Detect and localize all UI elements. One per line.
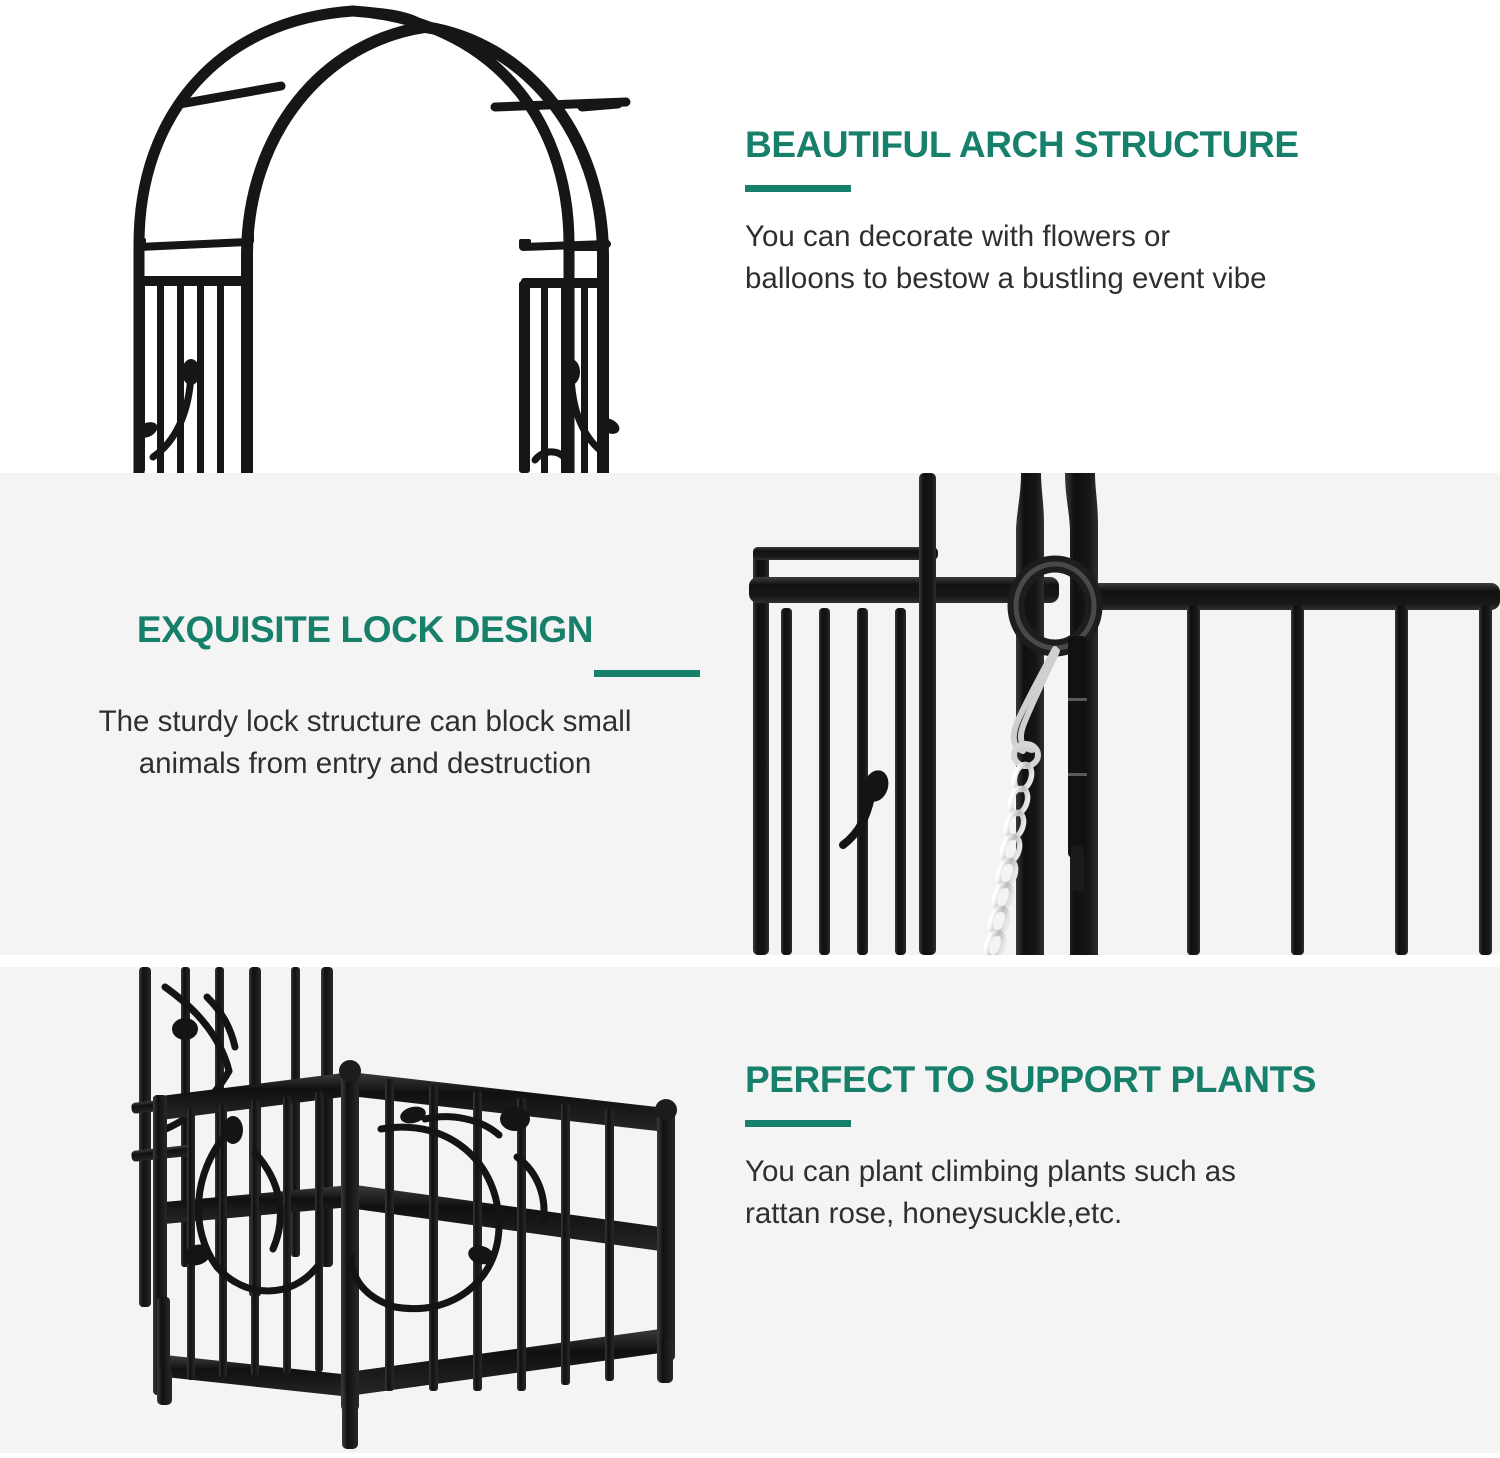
lock-heading-underline bbox=[594, 670, 700, 677]
lock-text-block: EXQUISITE LOCK DESIGN The sturdy lock st… bbox=[0, 610, 730, 785]
plant-body: You can plant climbing plants such as ra… bbox=[745, 1151, 1465, 1235]
lock-design-image bbox=[735, 473, 1500, 955]
arch-text-block: BEAUTIFUL ARCH STRUCTURE You can decorat… bbox=[745, 125, 1465, 300]
lock-body-line-2: animals from entry and destruction bbox=[0, 743, 730, 785]
plant-text-block: PERFECT TO SUPPORT PLANTS You can plant … bbox=[745, 1060, 1465, 1235]
arch-heading: BEAUTIFUL ARCH STRUCTURE bbox=[745, 125, 1465, 164]
plant-heading-underline bbox=[745, 1120, 851, 1127]
arch-body-line-1: You can decorate with flowers or bbox=[745, 216, 1465, 258]
plant-heading: PERFECT TO SUPPORT PLANTS bbox=[745, 1060, 1465, 1099]
planter-cage-image bbox=[95, 967, 715, 1453]
infographic-page: BEAUTIFUL ARCH STRUCTURE You can decorat… bbox=[0, 0, 1500, 1453]
lock-heading: EXQUISITE LOCK DESIGN bbox=[0, 610, 730, 649]
arch-body: You can decorate with flowers or balloon… bbox=[745, 216, 1465, 300]
lock-body: The sturdy lock structure can block smal… bbox=[0, 701, 730, 785]
arch-heading-underline bbox=[745, 185, 851, 192]
plant-body-line-2: rattan rose, honeysuckle,etc. bbox=[745, 1193, 1465, 1235]
arch-body-line-2: balloons to bestow a bustling event vibe bbox=[745, 258, 1465, 300]
arch-structure-image bbox=[95, 0, 715, 473]
panel-beautiful-arch-structure: BEAUTIFUL ARCH STRUCTURE You can decorat… bbox=[0, 0, 1500, 473]
plant-body-line-1: You can plant climbing plants such as bbox=[745, 1151, 1465, 1193]
lock-body-line-1: The sturdy lock structure can block smal… bbox=[0, 701, 730, 743]
